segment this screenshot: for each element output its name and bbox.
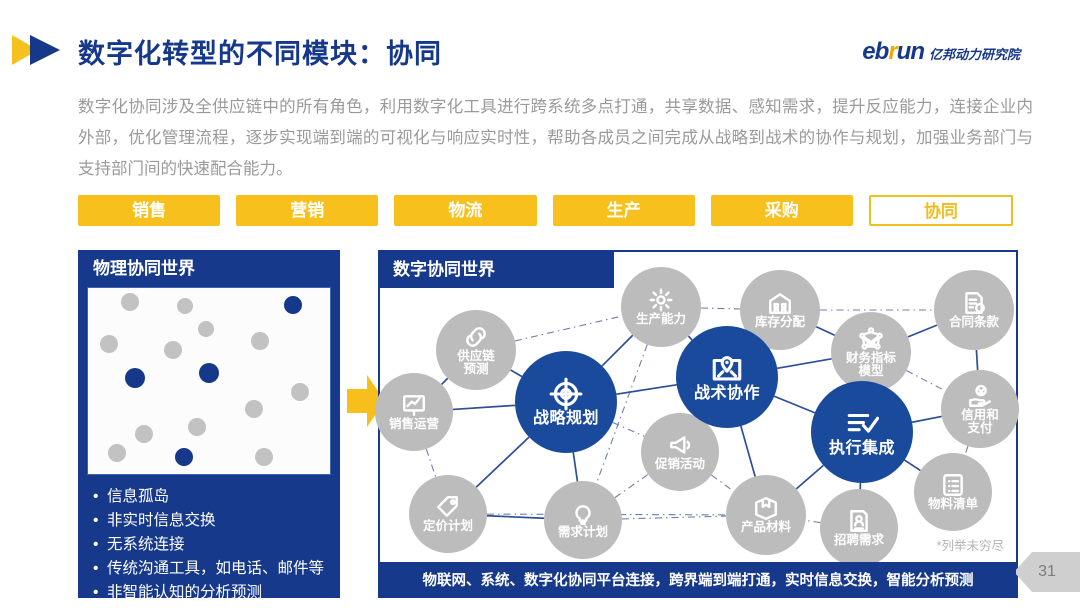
network-node-label: 促销活动 xyxy=(655,458,705,471)
network-edge xyxy=(906,371,945,391)
lightbulb-icon xyxy=(570,500,596,526)
isolated-dot xyxy=(108,444,126,462)
isolated-dot xyxy=(198,321,214,337)
network-edge xyxy=(515,316,622,341)
brand-logo: ebrun 亿邦动力研究院 xyxy=(862,40,1020,64)
network-node-label: 定价计划 xyxy=(423,520,473,533)
network-node-execution[interactable]: 执行集成 xyxy=(811,381,913,483)
network-node-tactical[interactable]: 战术协作 xyxy=(676,326,778,428)
isolated-dot xyxy=(100,335,118,353)
network-edge xyxy=(511,370,522,376)
brand-logo-cn: 亿邦动力研究院 xyxy=(929,48,1020,61)
network-edge xyxy=(426,449,435,477)
page-title: 数字化转型的不同模块：协同 xyxy=(78,32,442,71)
module-tab-1[interactable]: 营销 xyxy=(236,195,378,226)
chart-board-icon xyxy=(401,392,427,418)
network-node-supply_chain[interactable]: 供应链预测 xyxy=(436,310,516,390)
network-node-product_mat[interactable]: 产品材料 xyxy=(726,475,806,555)
network-edge xyxy=(622,516,726,519)
network-edge xyxy=(908,325,937,337)
network-node-finance[interactable]: 财务指标模型 xyxy=(831,312,911,392)
network-edge xyxy=(976,350,977,370)
network-node-recruit[interactable]: 招聘需求 xyxy=(820,489,898,567)
network-node-pricing[interactable]: 定价计划 xyxy=(409,475,487,553)
box-icon xyxy=(753,495,779,521)
physical-world-bullet: 信息孤岛 xyxy=(93,485,339,508)
physical-world-panel: 物理协同世界 信息孤岛非实时信息交换无系统连接传统沟通工具，如电话、邮件等非智能… xyxy=(78,250,340,598)
physical-world-bullet: 无系统连接 xyxy=(93,533,339,556)
isolated-dot xyxy=(121,293,139,311)
network-edge xyxy=(442,378,448,384)
network-node-label: 生产能力 xyxy=(636,313,686,326)
network-edge xyxy=(777,359,831,368)
digital-world-banner: 物联网、系统、数字化协同平台连接，跨界端到端打通，实时信息交换，智能分析预测 xyxy=(380,562,1016,596)
network-node-label: 执行集成 xyxy=(829,441,895,458)
digital-world-title: 数字协同世界 xyxy=(380,252,614,288)
page-number: 31 xyxy=(1014,552,1080,592)
isolated-dot xyxy=(125,368,145,388)
network-node-label: 合同条款 xyxy=(949,316,999,329)
network-edge xyxy=(965,446,968,455)
network-edge xyxy=(487,516,544,519)
network-node-bom[interactable]: 物料清单 xyxy=(914,453,992,531)
module-tab-3[interactable]: 生产 xyxy=(553,195,695,226)
isolated-dot xyxy=(199,363,219,383)
physical-world-bullet: 非智能认知的分析预测 xyxy=(93,581,339,604)
target-icon xyxy=(549,377,583,411)
map-pin-icon xyxy=(710,352,744,386)
module-tab-5[interactable]: 协同 xyxy=(869,195,1013,226)
hand-money-icon xyxy=(967,383,993,409)
network-edge xyxy=(613,422,645,436)
isolated-dots-field xyxy=(87,287,331,475)
network-graph-icon xyxy=(858,326,884,352)
network-edge xyxy=(476,437,529,487)
isolated-dot xyxy=(255,448,273,466)
isolated-dot xyxy=(135,425,153,443)
module-tab-0[interactable]: 销售 xyxy=(78,195,220,226)
network-edge xyxy=(602,335,633,366)
isolated-dot xyxy=(291,383,309,401)
network-node-label: 需求计划 xyxy=(558,526,608,539)
network-node-label: 战术协作 xyxy=(694,386,760,403)
network-edge xyxy=(905,460,921,470)
isolated-dot xyxy=(245,400,263,418)
network-edge xyxy=(816,327,834,335)
intro-paragraph: 数字化协同涉及全供应链中的所有角色，利用数字化工具进行跨系统多点打通，共享数据、… xyxy=(78,92,1033,185)
task-check-icon xyxy=(845,407,879,441)
network-edge xyxy=(774,396,815,413)
network-node-capacity[interactable]: 生产能力 xyxy=(621,267,701,347)
isolated-dot xyxy=(175,448,193,466)
isolated-dot xyxy=(251,332,269,350)
physical-world-bullet: 非实时信息交换 xyxy=(93,509,339,532)
network-node-label: 物料清单 xyxy=(928,498,978,511)
brand-logo-wordmark: ebrun xyxy=(862,40,924,64)
gear-icon xyxy=(648,287,674,313)
network-edge xyxy=(573,452,577,481)
person-doc-icon xyxy=(846,508,872,534)
slide-root: 数字化转型的不同模块：协同 ebrun 亿邦动力研究院 数字化协同涉及全供应链中… xyxy=(0,0,1080,608)
network-edge xyxy=(701,308,740,309)
network-node-credit[interactable]: 信用和支付 xyxy=(941,370,1019,448)
network-node-label: 供应链预测 xyxy=(457,350,495,376)
network-edge xyxy=(453,405,515,409)
link-chain-icon xyxy=(463,324,489,350)
network-node-sales_ops[interactable]: 销售运营 xyxy=(375,373,453,451)
network-node-label: 销售运营 xyxy=(389,418,439,431)
isolated-dot xyxy=(177,298,193,314)
network-node-label: 招聘需求 xyxy=(834,534,884,547)
isolated-dot xyxy=(284,296,302,314)
contract-icon xyxy=(961,290,987,316)
list-check-icon xyxy=(940,472,966,498)
price-tag-icon xyxy=(435,494,461,520)
network-edge xyxy=(796,465,823,488)
network-node-strategy[interactable]: 战略规划 xyxy=(515,351,617,453)
network-edge xyxy=(616,385,676,394)
network-node-label: 产品材料 xyxy=(741,521,791,534)
physical-world-bullet: 传统沟通工具，如电话、邮件等 xyxy=(93,557,339,580)
network-node-label: 信用和支付 xyxy=(961,409,999,435)
network-node-promotion[interactable]: 促销活动 xyxy=(641,413,719,491)
physical-world-bullets: 信息孤岛非实时信息交换无系统连接传统沟通工具，如电话、邮件等非智能认知的分析预测 xyxy=(79,475,339,604)
isolated-dot xyxy=(188,418,206,436)
megaphone-icon xyxy=(667,432,693,458)
digital-world-panel: 数字协同世界 供应链预测销售运营定价计划需求计划生产能力促销活动库存分配财务指标… xyxy=(378,250,1018,598)
physical-world-title: 物理协同世界 xyxy=(79,251,339,287)
network-node-contract[interactable]: 合同条款 xyxy=(934,270,1014,350)
network-edge xyxy=(912,416,942,422)
network-node-label: 财务指标模型 xyxy=(846,352,896,378)
network-node-label: 战略规划 xyxy=(533,411,599,428)
network-node-demand_plan[interactable]: 需求计划 xyxy=(544,481,622,559)
network-node-label: 库存分配 xyxy=(755,316,805,329)
warehouse-icon xyxy=(767,290,793,316)
module-tabs: 销售营销物流生产采购协同 xyxy=(78,195,1013,226)
double-chevron-right-icon xyxy=(12,31,74,69)
network-edge xyxy=(806,521,821,523)
isolated-dot xyxy=(164,341,182,359)
module-tab-4[interactable]: 采购 xyxy=(711,195,853,226)
network-edge xyxy=(711,475,733,491)
network-edge xyxy=(615,474,648,497)
module-tab-2[interactable]: 物流 xyxy=(394,195,536,226)
network-edge xyxy=(741,426,755,476)
footnote: *列举未穷尽 xyxy=(937,535,1004,554)
